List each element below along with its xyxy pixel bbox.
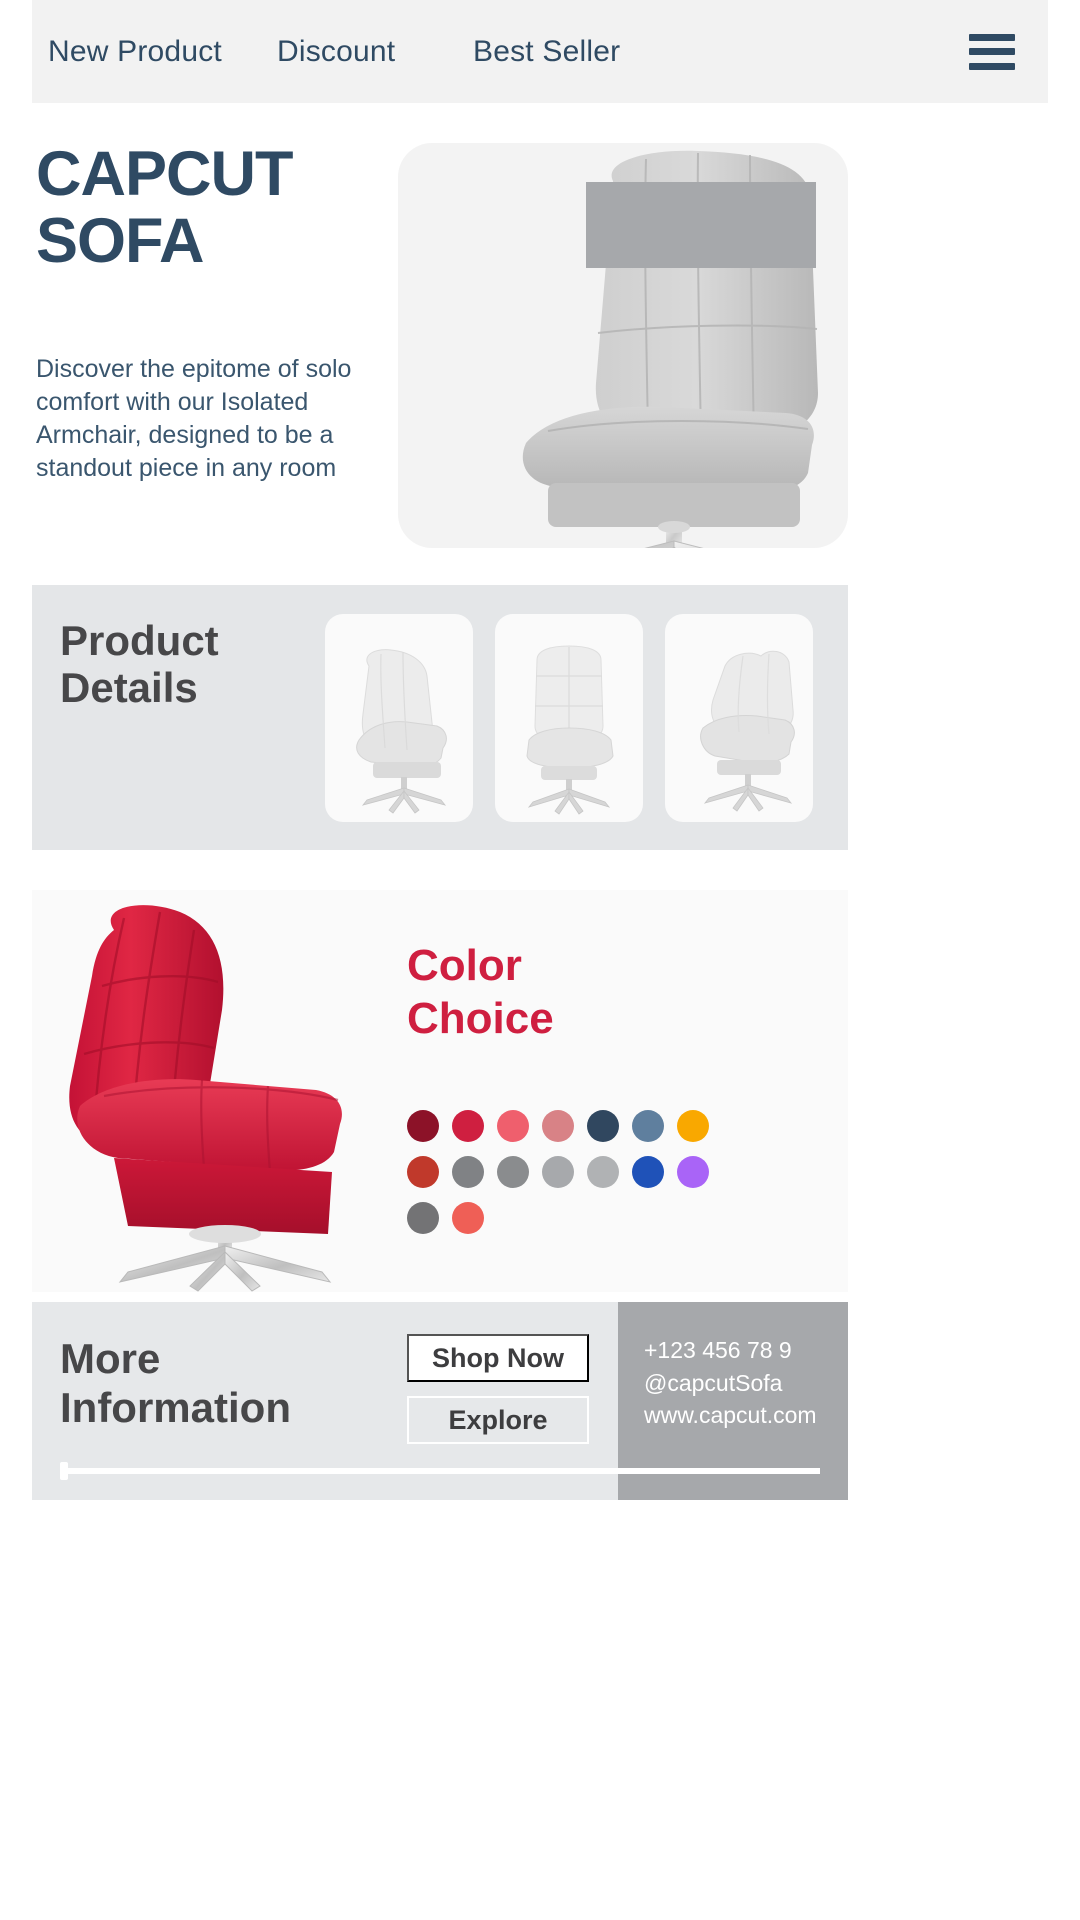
product-thumbnail-2[interactable] xyxy=(495,614,643,822)
product-details-section: Product Details xyxy=(32,585,848,850)
product-details-title: Product Details xyxy=(60,617,320,711)
color-swatch-r1-c5[interactable] xyxy=(587,1110,619,1142)
color-swatch-r1-c3[interactable] xyxy=(497,1110,529,1142)
color-swatch-r1-c8[interactable] xyxy=(407,1156,439,1188)
color-swatch-r2-c8[interactable] xyxy=(452,1202,484,1234)
hero-description: Discover the epitome of solo comfort wit… xyxy=(36,353,396,485)
more-information-title: More Information xyxy=(60,1334,380,1432)
contact-phone[interactable]: +123 456 78 9 xyxy=(644,1334,848,1367)
color-swatch-r2-c2[interactable] xyxy=(497,1156,529,1188)
red-armchair-image xyxy=(32,890,402,1292)
color-swatch-r1-c1[interactable] xyxy=(407,1110,439,1142)
contact-panel-extension xyxy=(586,182,816,268)
slider-track[interactable] xyxy=(60,1468,820,1474)
color-swatch-r1-c2[interactable] xyxy=(452,1110,484,1142)
contact-social-handle[interactable]: @capcutSofa xyxy=(644,1367,848,1400)
color-swatch-r2-c3[interactable] xyxy=(542,1156,574,1188)
nav-link-discount[interactable]: Discount xyxy=(277,35,395,69)
color-swatch-r2-c5[interactable] xyxy=(632,1156,664,1188)
more-information-section: More Information Shop Now Explore +123 4… xyxy=(32,1302,848,1500)
hamburger-bar-1 xyxy=(969,34,1015,41)
color-choice-title-line-1: Color xyxy=(407,941,522,990)
top-navbar: New Product Discount Best Seller xyxy=(32,0,1048,103)
color-choice-title-line-2: Choice xyxy=(407,994,554,1043)
hero-section: CAPCUT SOFA Discover the epitome of solo… xyxy=(0,103,1080,583)
color-swatch-r1-c6[interactable] xyxy=(632,1110,664,1142)
product-thumbnail-list xyxy=(325,614,813,822)
contact-website[interactable]: www.capcut.com xyxy=(644,1399,848,1432)
color-swatch-r2-c6[interactable] xyxy=(677,1156,709,1188)
product-details-title-line-2: Details xyxy=(60,664,198,711)
hamburger-bar-2 xyxy=(969,48,1015,55)
color-swatch-r1-c7[interactable] xyxy=(677,1110,709,1142)
product-details-title-line-1: Product xyxy=(60,617,219,664)
page-root: New Product Discount Best Seller CAPCUT … xyxy=(0,0,1080,1920)
color-swatch-grid xyxy=(407,1110,737,1234)
more-information-title-line-1: More xyxy=(60,1335,160,1382)
slider-thumb[interactable] xyxy=(60,1462,68,1480)
shop-now-button[interactable]: Shop Now xyxy=(407,1334,589,1382)
product-thumbnail-1[interactable] xyxy=(325,614,473,822)
color-swatch-r2-c1[interactable] xyxy=(452,1156,484,1188)
more-information-title-line-2: Information xyxy=(60,1384,291,1431)
color-swatch-r1-c4[interactable] xyxy=(542,1110,574,1142)
product-thumbnail-3[interactable] xyxy=(665,614,813,822)
white-armchair-side-view-icon xyxy=(325,614,473,822)
color-swatch-r2-c7[interactable] xyxy=(407,1202,439,1234)
hamburger-menu-icon[interactable] xyxy=(969,34,1015,70)
page-title: CAPCUT SOFA xyxy=(36,141,456,275)
hero-title-line-2: SOFA xyxy=(36,206,204,276)
white-armchair-front-view-icon xyxy=(495,614,643,822)
hamburger-bar-3 xyxy=(969,63,1015,70)
nav-link-best-seller[interactable]: Best Seller xyxy=(473,35,620,69)
color-choice-title: Color Choice xyxy=(407,940,667,1046)
hero-title-line-1: CAPCUT xyxy=(36,139,293,209)
color-choice-section: Color Choice xyxy=(32,890,848,1292)
nav-link-new-product[interactable]: New Product xyxy=(48,35,222,69)
explore-button[interactable]: Explore xyxy=(407,1396,589,1444)
white-armchair-back-view-icon xyxy=(665,614,813,822)
progress-slider[interactable] xyxy=(60,1462,820,1480)
color-swatch-r2-c4[interactable] xyxy=(587,1156,619,1188)
